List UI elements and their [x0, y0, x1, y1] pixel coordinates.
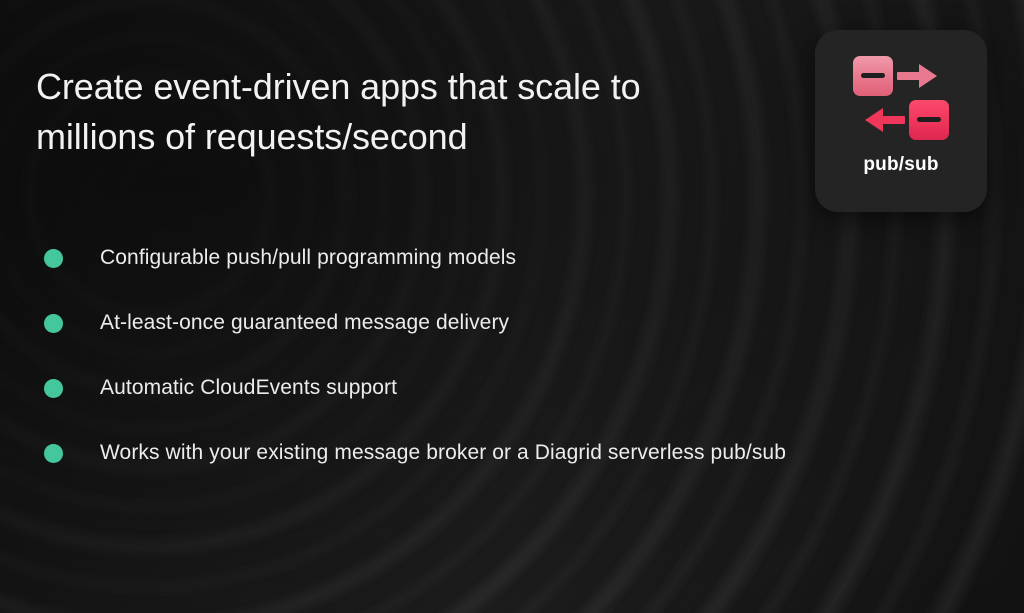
- publisher-block: [853, 56, 893, 96]
- list-item: At-least-once guaranteed message deliver…: [36, 305, 976, 341]
- list-item-label: Automatic CloudEvents support: [100, 376, 397, 400]
- bullet-dot-icon: [44, 444, 63, 463]
- list-item-label: At-least-once guaranteed message deliver…: [100, 311, 509, 335]
- bullet-dot-icon: [44, 379, 63, 398]
- list-item: Works with your existing message broker …: [36, 435, 976, 471]
- slide-canvas: Create event-driven apps that scale to m…: [0, 0, 1024, 613]
- subscriber-block: [909, 100, 949, 140]
- bullet-dot-icon: [44, 249, 63, 268]
- list-item: Automatic CloudEvents support: [36, 370, 976, 406]
- bullet-dot-icon: [44, 314, 63, 333]
- feature-bullet-list: Configurable push/pull programming model…: [36, 240, 976, 500]
- slide-content: Create event-driven apps that scale to m…: [0, 0, 1024, 613]
- pub-sub-icon: [849, 52, 953, 144]
- page-title: Create event-driven apps that scale to m…: [36, 62, 736, 163]
- pub-sub-card-label: pub/sub: [863, 154, 938, 176]
- arrow-right-icon: [897, 64, 937, 88]
- list-item: Configurable push/pull programming model…: [36, 240, 976, 276]
- headline-line-2: millions of requests/second: [36, 112, 736, 162]
- list-item-label: Configurable push/pull programming model…: [100, 246, 516, 270]
- list-item-label: Works with your existing message broker …: [100, 441, 786, 465]
- pub-sub-card: pub/sub: [815, 30, 987, 212]
- arrow-left-icon: [865, 108, 905, 132]
- headline-line-1: Create event-driven apps that scale to: [36, 62, 736, 112]
